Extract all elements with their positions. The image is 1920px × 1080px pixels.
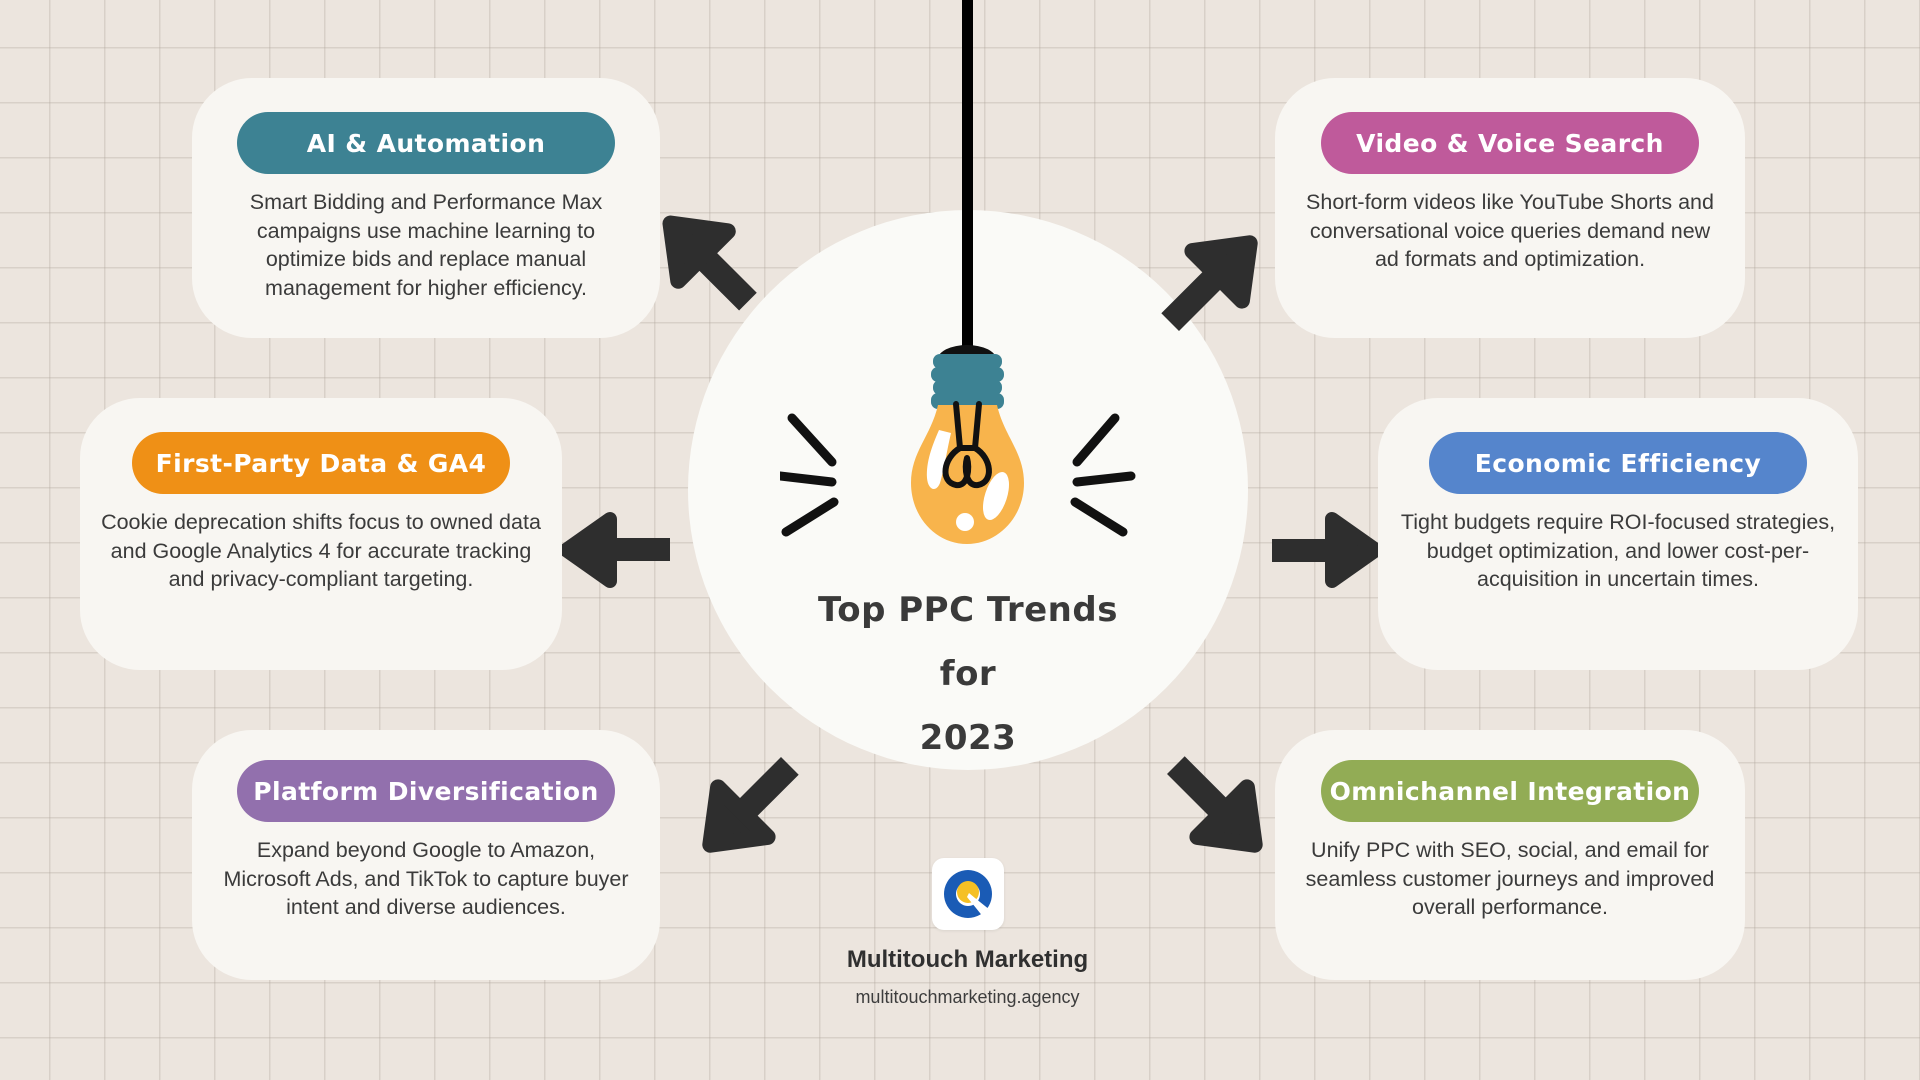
- center-title-line-1: Top PPC Trends for: [788, 578, 1148, 706]
- brand-url[interactable]: multitouchmarketing.agency: [855, 987, 1079, 1008]
- footer-branding: Multitouch Marketing multitouchmarketing…: [760, 858, 1175, 1008]
- multitouch-logo-icon: [932, 858, 1004, 930]
- card-video-label: Video & Voice Search: [1321, 112, 1699, 174]
- bulb-shine-marks-right: [1055, 410, 1185, 550]
- card-first-party-data-ga4[interactable]: First-Party Data & GA4 Cookie deprecatio…: [80, 398, 562, 670]
- card-platform-diversification[interactable]: Platform Diversification Expand beyond G…: [192, 730, 660, 980]
- card-platform-label: Platform Diversification: [237, 760, 615, 822]
- bulb-cord: [962, 0, 973, 356]
- center-title: Top PPC Trends for 2023: [788, 578, 1148, 770]
- card-omni-description: Unify PPC with SEO, social, and email fo…: [1274, 836, 1746, 922]
- card-omni-label: Omnichannel Integration: [1321, 760, 1699, 822]
- bulb-cap: [931, 354, 1004, 409]
- arrow-to-ai: [640, 198, 800, 348]
- bulb-shine-marks: [780, 410, 910, 550]
- card-econ-label: Economic Efficiency: [1429, 432, 1807, 494]
- card-econ-description: Tight budgets require ROI-focused strate…: [1382, 508, 1854, 594]
- card-video-description: Short-form videos like YouTube Shorts an…: [1279, 188, 1741, 274]
- card-omnichannel-integration[interactable]: Omnichannel Integration Unify PPC with S…: [1275, 730, 1745, 980]
- bulb-highlight-3: [956, 513, 974, 531]
- card-economic-efficiency[interactable]: Economic Efficiency Tight budgets requir…: [1378, 398, 1858, 670]
- card-ai-description: Smart Bidding and Performance Max campai…: [200, 188, 652, 302]
- card-video-voice-search[interactable]: Video & Voice Search Short-form videos l…: [1275, 78, 1745, 338]
- card-ai-label: AI & Automation: [237, 112, 615, 174]
- center-title-line-2: 2023: [788, 706, 1148, 770]
- card-first-label: First-Party Data & GA4: [132, 432, 510, 494]
- card-platform-description: Expand beyond Google to Amazon, Microsof…: [195, 836, 657, 922]
- card-ai-automation[interactable]: AI & Automation Smart Bidding and Perfor…: [192, 78, 660, 338]
- brand-name: Multitouch Marketing: [847, 946, 1088, 974]
- card-first-description: Cookie deprecation shifts focus to owned…: [85, 508, 557, 594]
